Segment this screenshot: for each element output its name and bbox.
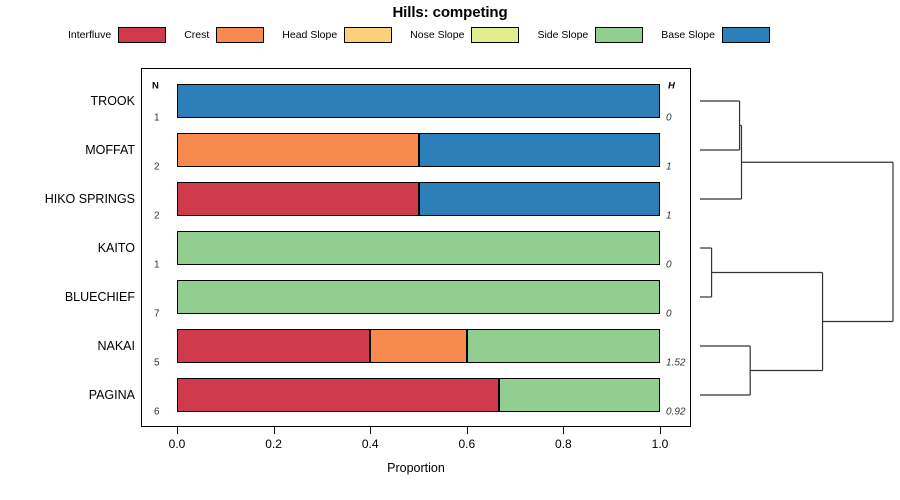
legend: InterfluveCrestHead SlopeNose SlopeSide …	[68, 25, 788, 45]
h-value: 0	[666, 260, 672, 271]
bar-segment	[467, 329, 660, 363]
legend-item: Head Slope	[282, 27, 392, 43]
x-axis-tick-label: 0.6	[458, 437, 475, 451]
bar-segment	[177, 182, 419, 216]
legend-item: Nose Slope	[410, 27, 519, 43]
n-value: 7	[154, 309, 160, 320]
y-axis-tick-label: NAKAI	[3, 339, 135, 353]
bar-segment	[177, 378, 499, 412]
legend-swatch	[471, 27, 519, 43]
bar-segment	[177, 329, 370, 363]
h-value: 1	[666, 162, 672, 173]
bar-row	[177, 182, 660, 216]
h-value: 0.92	[666, 407, 685, 418]
bar-row	[177, 280, 660, 314]
bar-segment	[177, 84, 660, 118]
x-axis-tick-mark	[177, 427, 178, 434]
x-axis-tick-mark	[660, 427, 661, 434]
bar-segment	[419, 182, 661, 216]
bar-segment	[499, 378, 660, 412]
legend-swatch	[595, 27, 643, 43]
n-value: 1	[154, 113, 160, 124]
x-axis-tick-mark	[467, 427, 468, 434]
y-axis-tick-label: HIKO SPRINGS	[3, 192, 135, 206]
x-axis-tick-label: 0.8	[555, 437, 572, 451]
dendrogram	[691, 0, 900, 500]
n-column-header: N	[152, 81, 159, 92]
x-axis-tick-label: 1.0	[652, 437, 669, 451]
legend-item-label: Crest	[184, 29, 209, 41]
x-axis-tick-mark	[370, 427, 371, 434]
n-value: 2	[154, 162, 160, 173]
x-axis-title: Proportion	[141, 461, 691, 475]
bar-segment	[177, 280, 660, 314]
chart-canvas: Hills: competing InterfluveCrestHead Slo…	[0, 0, 900, 500]
bar-row	[177, 133, 660, 167]
legend-item: Side Slope	[537, 27, 643, 43]
legend-item-label: Side Slope	[537, 29, 588, 41]
n-value: 1	[154, 260, 160, 271]
bar-segment	[419, 133, 661, 167]
n-value: 2	[154, 211, 160, 222]
y-axis-tick-label: BLUECHIEF	[3, 290, 135, 304]
h-value: 0	[666, 309, 672, 320]
bar-segment	[177, 133, 419, 167]
bar-row	[177, 84, 660, 118]
bar-segment	[177, 231, 660, 265]
bar-row	[177, 231, 660, 265]
x-axis-tick-mark	[563, 427, 564, 434]
bar-segment	[370, 329, 467, 363]
y-axis-labels: TROOKMOFFATHIKO SPRINGSKAITOBLUECHIEFNAK…	[0, 0, 135, 500]
legend-swatch	[344, 27, 392, 43]
legend-item-label: Head Slope	[282, 29, 337, 41]
x-axis-tick-label: 0.2	[265, 437, 282, 451]
y-axis-tick-label: PAGINA	[3, 388, 135, 402]
x-axis-tick-mark	[274, 427, 275, 434]
h-value: 0	[666, 113, 672, 124]
legend-item-label: Nose Slope	[410, 29, 464, 41]
n-value: 5	[154, 358, 160, 369]
bar-row	[177, 378, 660, 412]
bar-row	[177, 329, 660, 363]
h-column-header: H	[668, 81, 675, 92]
legend-item: Crest	[184, 27, 264, 43]
x-axis-tick-label: 0.4	[362, 437, 379, 451]
x-axis-tick-label: 0.0	[169, 437, 186, 451]
h-value: 1	[666, 211, 672, 222]
y-axis-tick-label: KAITO	[3, 241, 135, 255]
y-axis-tick-label: TROOK	[3, 94, 135, 108]
n-value: 6	[154, 407, 160, 418]
y-axis-tick-label: MOFFAT	[3, 143, 135, 157]
legend-swatch	[216, 27, 264, 43]
h-value: 1.52	[666, 358, 685, 369]
